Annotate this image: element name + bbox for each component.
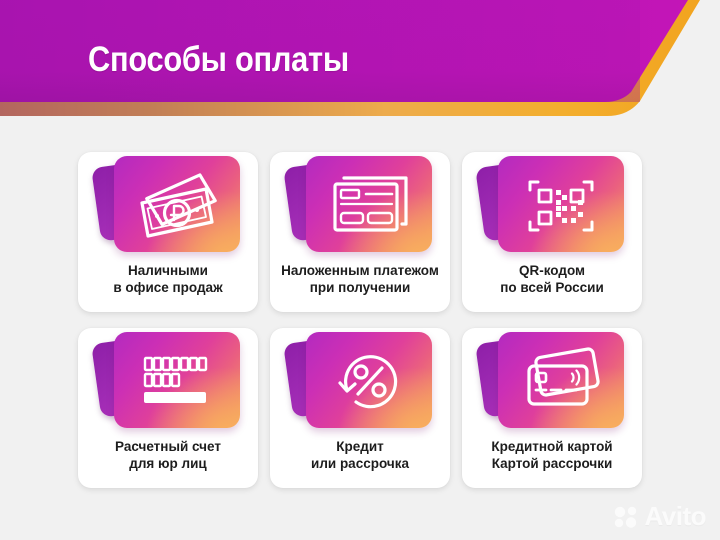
percent-refresh-icon	[306, 332, 432, 428]
card-label: Наложенным платежом при получении	[277, 262, 443, 296]
card-label: QR-кодом по всей России	[496, 262, 608, 296]
avito-watermark: Avito	[613, 501, 706, 532]
credit-cards-contactless-icon	[498, 332, 624, 428]
icon-tile	[498, 156, 624, 252]
tile-front-layer	[498, 156, 624, 252]
tile-front-layer	[498, 332, 624, 428]
payment-card-cash-on-delivery[interactable]: Наложенным платежом при получении	[270, 152, 450, 312]
payment-methods-grid: Наличными в офисе продаж	[78, 152, 642, 488]
payment-card-credit[interactable]: Кредит или рассрочка	[270, 328, 450, 488]
card-label: Расчетный счет для юр лиц	[111, 438, 225, 472]
card-label: Наличными в офисе продаж	[109, 262, 226, 296]
header-banner: Способы оплаты	[0, 0, 720, 116]
page-title: Способы оплаты	[88, 40, 349, 80]
banknotes-ruble-icon	[114, 156, 240, 252]
avito-dots-icon	[613, 506, 639, 528]
payment-card-qr-code[interactable]: QR-кодом по всей России	[462, 152, 642, 312]
icon-tile	[306, 332, 432, 428]
payment-card-bank-account[interactable]: Расчетный счет для юр лиц	[78, 328, 258, 488]
invoice-document-icon	[306, 156, 432, 252]
payment-card-credit-card[interactable]: Кредитной картой Картой рассрочки	[462, 328, 642, 488]
icon-tile	[306, 156, 432, 252]
card-label: Кредитной картой Картой рассрочки	[487, 438, 616, 472]
tile-front-layer	[306, 332, 432, 428]
icon-tile	[114, 156, 240, 252]
payment-card-cash[interactable]: Наличными в офисе продаж	[78, 152, 258, 312]
tile-front-layer	[306, 156, 432, 252]
tile-front-layer	[114, 332, 240, 428]
qr-code-icon	[498, 156, 624, 252]
card-label: Кредит или рассрочка	[307, 438, 413, 472]
tile-front-layer	[114, 156, 240, 252]
icon-tile	[114, 332, 240, 428]
icon-tile	[498, 332, 624, 428]
avito-watermark-text: Avito	[644, 501, 706, 532]
account-number-icon	[114, 332, 240, 428]
